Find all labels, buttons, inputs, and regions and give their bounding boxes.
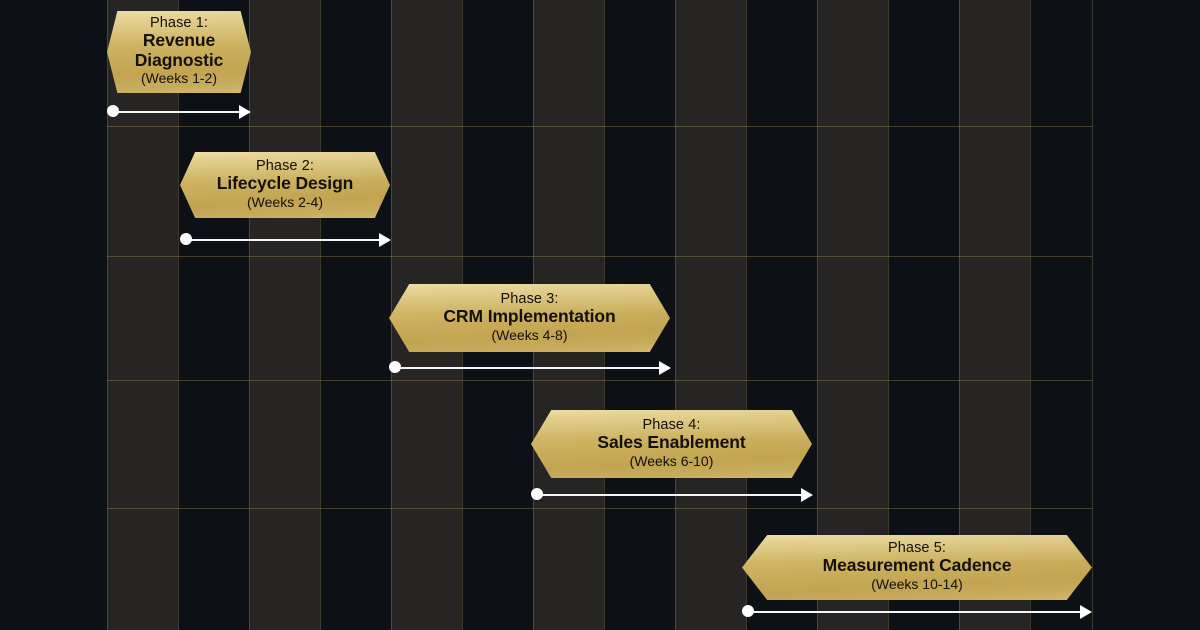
phase-title: Sales Enablement (597, 433, 745, 453)
phase-weeks-label: (Weeks 2-4) (247, 195, 323, 211)
arrow-line (112, 111, 242, 113)
phase-badge-2[interactable]: Phase 2:Lifecycle Design(Weeks 2-4) (180, 152, 390, 218)
phase-duration-arrow-2[interactable] (180, 233, 391, 247)
grid-row-divider (107, 256, 1092, 257)
grid-row-divider (107, 380, 1092, 381)
phase-title: CRM Implementation (443, 307, 615, 327)
phase-weeks-label: (Weeks 1-2) (141, 71, 217, 87)
phase-weeks-label: (Weeks 6-10) (630, 454, 714, 470)
phase-badge-1[interactable]: Phase 1:Revenue Diagnostic(Weeks 1-2) (107, 11, 251, 93)
phase-title: Revenue Diagnostic (133, 31, 225, 70)
grid-row-divider (107, 126, 1092, 127)
arrow-start-dot-icon (180, 233, 192, 245)
grid-column-divider (178, 0, 179, 630)
grid-column-divider (320, 0, 321, 630)
grid-column-divider (1092, 0, 1093, 630)
arrow-line (536, 494, 804, 496)
phase-weeks-label: (Weeks 10-14) (871, 577, 963, 593)
phase-duration-arrow-5[interactable] (742, 605, 1092, 619)
grid-row-divider (107, 508, 1092, 509)
arrow-start-dot-icon (389, 361, 401, 373)
phase-number-label: Phase 5: (888, 540, 946, 556)
phase-badge-3[interactable]: Phase 3:CRM Implementation(Weeks 4-8) (389, 284, 670, 352)
arrow-start-dot-icon (531, 488, 543, 500)
phase-number-label: Phase 4: (642, 417, 700, 433)
phase-duration-arrow-3[interactable] (389, 361, 671, 375)
arrow-head-icon (659, 361, 671, 375)
arrow-line (394, 367, 662, 369)
grid-column-shaded (675, 0, 746, 630)
phase-badge-5[interactable]: Phase 5:Measurement Cadence(Weeks 10-14) (742, 535, 1092, 600)
phase-number-label: Phase 3: (500, 291, 558, 307)
arrow-head-icon (801, 488, 813, 502)
phase-duration-arrow-1[interactable] (107, 105, 251, 119)
phase-title: Measurement Cadence (823, 556, 1012, 576)
grid-column-divider (675, 0, 676, 630)
grid-column-divider (249, 0, 250, 630)
timeline-canvas: Phase 1:Revenue Diagnostic(Weeks 1-2)Pha… (0, 0, 1200, 630)
grid-column-shaded (107, 0, 178, 630)
phase-title: Lifecycle Design (217, 174, 354, 194)
arrow-line (747, 611, 1083, 613)
arrow-start-dot-icon (742, 605, 754, 617)
phase-weeks-label: (Weeks 4-8) (492, 328, 568, 344)
grid-column-divider (746, 0, 747, 630)
arrow-start-dot-icon (107, 105, 119, 117)
phase-number-label: Phase 1: (150, 15, 208, 31)
phase-badge-4[interactable]: Phase 4:Sales Enablement(Weeks 6-10) (531, 410, 812, 478)
grid-column-divider (107, 0, 108, 630)
arrow-head-icon (379, 233, 391, 247)
arrow-head-icon (1080, 605, 1092, 619)
arrow-line (185, 239, 382, 241)
grid-column-shaded (249, 0, 320, 630)
arrow-head-icon (239, 105, 251, 119)
phase-duration-arrow-4[interactable] (531, 488, 813, 502)
phase-number-label: Phase 2: (256, 158, 314, 174)
